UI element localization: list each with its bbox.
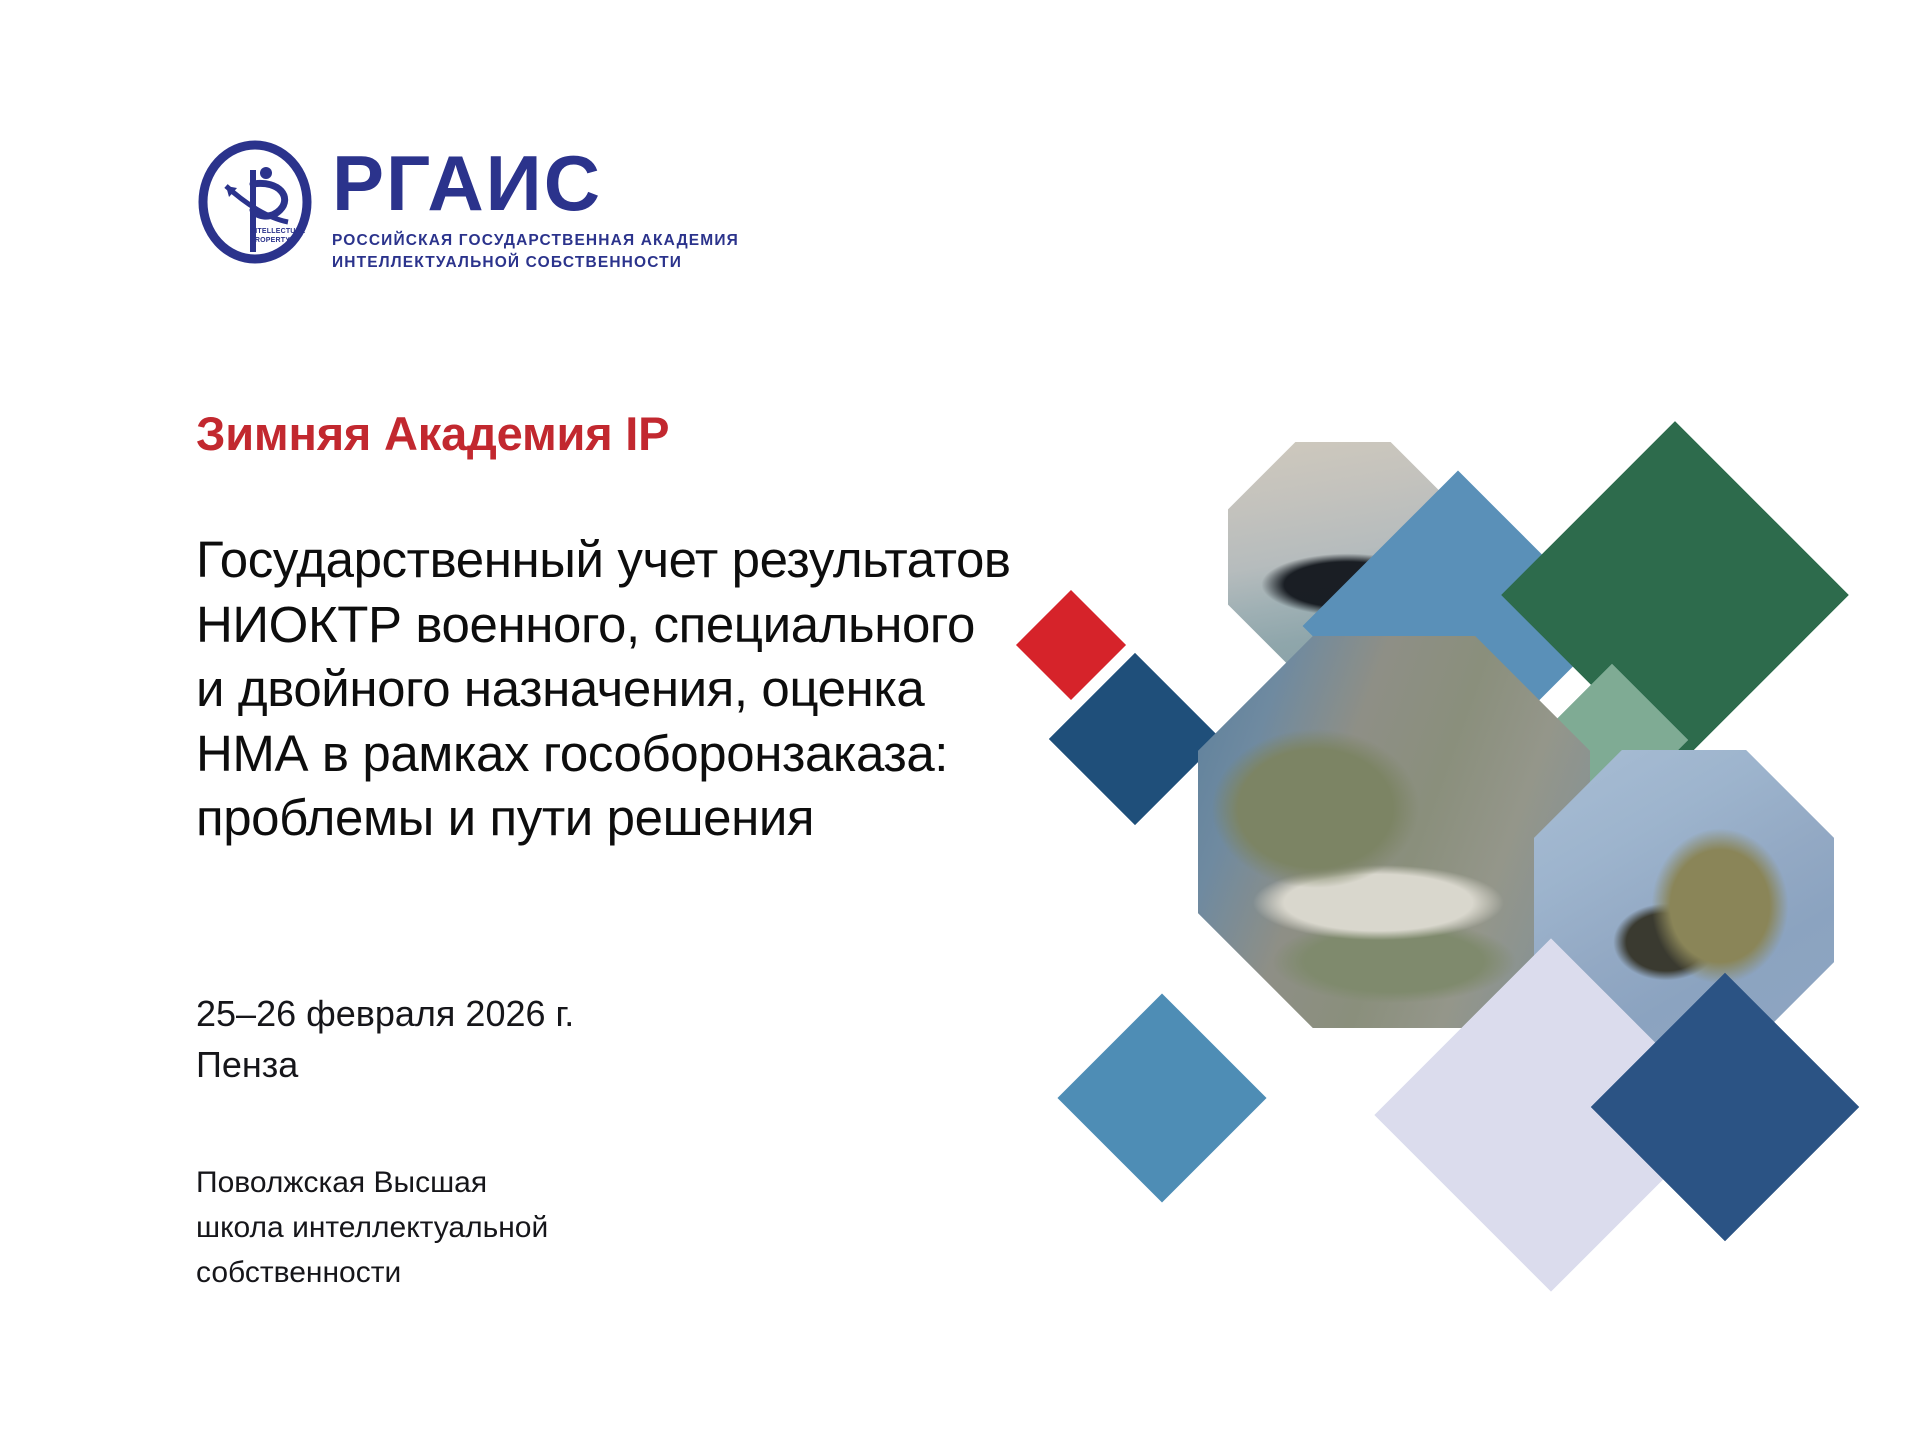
event-series-kicker: Зимняя Академия IP [196,408,669,460]
emblem-microtext-line1: INTELLECTUAL [250,228,305,237]
presentation-slide: INTELLECTUAL PROPERTY РГАИС РОССИЙСКАЯ Г… [0,0,1920,1440]
diamond-blue-mid [1057,993,1266,1202]
organizer-line: школа интеллектуальной [196,1205,548,1250]
event-city: Пенза [196,1039,574,1090]
organizer-block: Поволжская Высшая школа интеллектуальной… [196,1160,548,1295]
event-datetime-location: 25–26 февраля 2026 г. Пенза [196,988,574,1090]
rgais-logo: INTELLECTUAL PROPERTY РГАИС РОССИЙСКАЯ Г… [196,140,739,274]
diamond-photo-collage [1160,420,1920,1440]
logo-subtitle-line2: ИНТЕЛЛЕКТУАЛЬНОЙ СОБСТВЕННОСТИ [332,252,739,274]
event-date: 25–26 февраля 2026 г. [196,988,574,1039]
organizer-line: собственности [196,1250,548,1295]
title-line: Государственный учет результатов [196,528,1256,593]
rgais-emblem-icon: INTELLECTUAL PROPERTY [196,140,314,272]
title-line: проблемы и пути решения [196,786,1256,851]
organizer-line: Поволжская Высшая [196,1160,548,1205]
emblem-microtext-line2: PROPERTY [250,237,305,246]
logo-acronym: РГАИС [332,146,739,221]
logo-subtitle-line1: РОССИЙСКАЯ ГОСУДАРСТВЕННАЯ АКАДЕМИЯ [332,230,739,252]
